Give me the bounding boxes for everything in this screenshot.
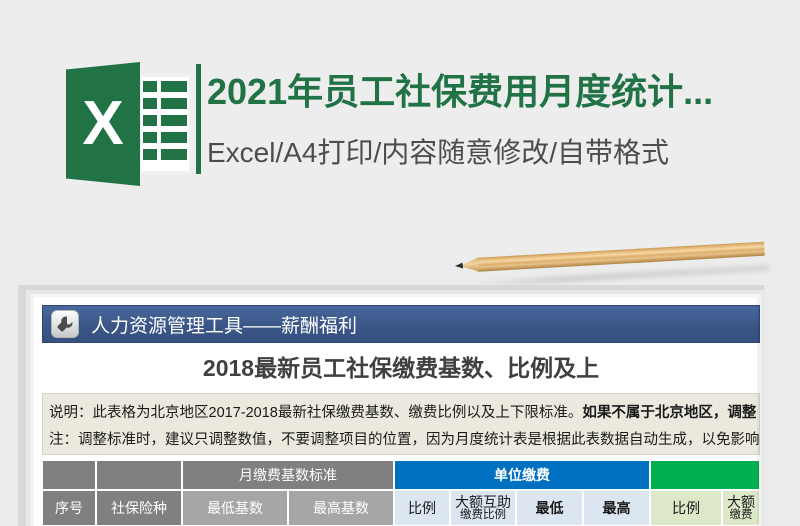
th-min-base: 最低基数 (182, 490, 288, 526)
screenshot-root: X 2021年员工社保费用月度统计... Excel/A4打印/内容随意修改/自… (0, 0, 800, 526)
th-employer-large-aid-l1: 大额互助 (455, 495, 511, 510)
document-heading: 2018最新员工社保缴费基数、比例及上 (42, 351, 760, 385)
th-employer-large-aid-l2: 缴费比例 (460, 509, 506, 521)
note-line-1: 说明：此表格为北京地区2017-2018最新社保缴费基数、缴费比例以及上下限标准… (43, 401, 759, 422)
th-index-top (42, 460, 96, 490)
th-insurance-type-top (96, 460, 182, 490)
note-1-text: 说明：此表格为北京地区2017-2018最新社保缴费基数、缴费比例以及上下限标准… (49, 405, 582, 421)
th-personal-rate: 比例 (650, 490, 722, 526)
th-index: 序号 (42, 490, 96, 526)
banner-subtitle: Excel/A4打印/内容随意修改/自带格式 (207, 132, 797, 174)
note-line-2: 注：调整标准时，建议只调整数值，不要调整项目的位置，因为月度统计表是根据此表数据… (43, 428, 759, 449)
th-personal-large-aid: 大额 缴费 (722, 490, 760, 526)
wrench-icon (51, 310, 79, 338)
th-insurance-type: 社保险种 (96, 490, 182, 526)
th-employer-payment: 单位缴费 (394, 460, 650, 490)
document-header-title: 人力资源管理工具——薪酬福利 (91, 311, 357, 338)
banner-title: 2021年员工社保费用月度统计... (207, 66, 797, 118)
excel-logo-letter: X (66, 62, 140, 186)
note-1-bold: 如果不属于北京地区，调整 (582, 405, 756, 421)
th-max-base: 最高基数 (288, 490, 394, 526)
document-right-edge (757, 297, 760, 526)
promo-banner: X 2021年员工社保费用月度统计... Excel/A4打印/内容随意修改/自… (0, 0, 800, 250)
document-preview[interactable]: 人力资源管理工具——薪酬福利 2018最新员工社保缴费基数、比例及上 说明：此表… (34, 297, 760, 526)
th-employer-max: 最高 (583, 490, 650, 526)
spreadsheet-table[interactable]: 月缴费基数标准 单位缴费 序号 社保险种 最低基数 最高基数 比例 大额互助 缴… (42, 460, 760, 526)
banner-accent-bar (196, 64, 201, 174)
th-employer-rate: 比例 (394, 490, 450, 526)
th-personal-large-aid-l1: 大额 (727, 495, 755, 510)
note-2-text: 注：调整标准时，建议只调整数值，不要调整项目的位置，因为月度统计表是根据此表数据… (49, 432, 759, 448)
document-header-bar: 人力资源管理工具——薪酬福利 (42, 305, 760, 343)
excel-logo-icon: X (66, 60, 192, 188)
th-employer-large-aid: 大额互助 缴费比例 (450, 490, 516, 526)
th-personal-payment (650, 460, 760, 490)
table-header-row-2: 序号 社保险种 最低基数 最高基数 比例 大额互助 缴费比例 最低 最高 比例 … (42, 490, 760, 526)
pencil-lead (455, 263, 463, 269)
th-personal-large-aid-l2: 缴费 (730, 509, 753, 521)
th-base-standard: 月缴费基数标准 (182, 460, 394, 490)
th-employer-min: 最低 (516, 490, 583, 526)
note-box: 说明：此表格为北京地区2017-2018最新社保缴费基数、缴费比例以及上下限标准… (42, 393, 760, 455)
excel-logo-grid (138, 74, 192, 174)
table-header-row-1: 月缴费基数标准 单位缴费 (42, 460, 760, 490)
